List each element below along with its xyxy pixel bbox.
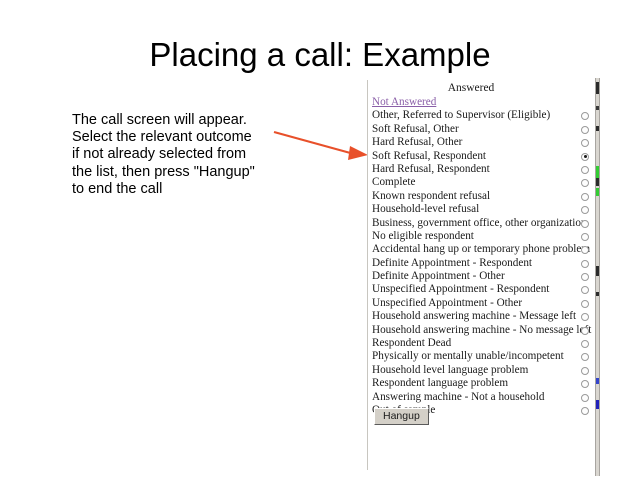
outcome-radio[interactable] [581, 166, 589, 174]
outcome-radio[interactable] [581, 286, 589, 294]
outcome-row[interactable]: Unspecified Appointment - Other [370, 297, 599, 310]
outcome-label: Definite Appointment - Respondent [372, 257, 532, 270]
outcome-radio[interactable] [581, 206, 589, 214]
scrollbar-mark [596, 82, 599, 94]
outcome-radio[interactable] [581, 313, 589, 321]
outcome-label: Answering machine - Not a household [372, 391, 544, 404]
arrow-icon [272, 122, 376, 168]
outcome-radio[interactable] [581, 367, 589, 375]
outcome-row[interactable]: Known respondent refusal [370, 190, 599, 203]
scrollbar-mark [596, 106, 599, 110]
outcome-label: Respondent Dead [372, 337, 451, 350]
answered-column-header: Answered [368, 82, 574, 94]
outcome-label: Household level language problem [372, 364, 528, 377]
outcome-label: Respondent language problem [372, 377, 508, 390]
outcome-radio[interactable] [581, 179, 589, 187]
outcome-row[interactable]: No eligible respondent [370, 230, 599, 243]
outcome-label: Household answering machine - Message le… [372, 310, 576, 323]
outcome-row[interactable]: Answering machine - Not a household [370, 391, 599, 404]
outcome-radio[interactable] [581, 340, 589, 348]
outcome-radio[interactable] [581, 353, 589, 361]
scrollbar-mark [596, 378, 599, 384]
outcome-radio[interactable] [581, 380, 589, 388]
call-screen-panel: Answered Not AnsweredOther, Referred to … [367, 80, 600, 470]
not-answered-link[interactable]: Not Answered [372, 96, 436, 109]
outcome-label: Soft Refusal, Respondent [372, 150, 486, 163]
outcome-label: Accidental hang up or temporary phone pr… [372, 243, 590, 256]
outcome-row[interactable]: Definite Appointment - Other [370, 270, 599, 283]
outcome-radio[interactable] [581, 300, 589, 308]
scrollbar-mark [596, 292, 599, 296]
outcome-radio[interactable] [581, 139, 589, 147]
outcome-label: Household-level refusal [372, 203, 479, 216]
scrollbar-thumb[interactable] [596, 166, 599, 178]
outcome-row[interactable]: Soft Refusal, Other [370, 123, 599, 136]
outcome-radio-selected[interactable] [581, 153, 589, 161]
outcome-label: Hard Refusal, Other [372, 136, 462, 149]
outcome-row[interactable]: Respondent Dead [370, 337, 599, 350]
outcome-radio[interactable] [581, 112, 589, 120]
outcome-label: Other, Referred to Supervisor (Eligible) [372, 109, 550, 122]
outcome-row[interactable]: Household level language problem [370, 364, 599, 377]
instruction-line: to end the call [72, 181, 282, 198]
outcome-radio[interactable] [581, 327, 589, 335]
outcome-row[interactable]: Respondent language problem [370, 377, 599, 390]
instruction-callout: The call screen will appear. Select the … [72, 112, 282, 198]
outcome-row[interactable]: Soft Refusal, Respondent [370, 150, 599, 163]
outcome-radio[interactable] [581, 126, 589, 134]
outcome-radio[interactable] [581, 273, 589, 281]
outcome-label: Household answering machine - No message… [372, 324, 591, 337]
outcome-row[interactable]: Household answering machine - Message le… [370, 310, 599, 323]
outcome-radio[interactable] [581, 193, 589, 201]
outcome-label: Business, government office, other organ… [372, 217, 587, 230]
outcome-radio[interactable] [581, 407, 589, 415]
outcome-row[interactable]: Other, Referred to Supervisor (Eligible) [370, 109, 599, 122]
outcome-radio[interactable] [581, 394, 589, 402]
hangup-button[interactable]: Hangup [374, 408, 429, 425]
outcome-label: Definite Appointment - Other [372, 270, 505, 283]
scrollbar-mark [596, 178, 599, 186]
outcome-row[interactable]: Accidental hang up or temporary phone pr… [370, 243, 599, 256]
outcome-label: Unspecified Appointment - Other [372, 297, 522, 310]
outcome-label: Unspecified Appointment - Respondent [372, 283, 549, 296]
outcome-label: Physically or mentally unable/incompeten… [372, 350, 564, 363]
scrollbar-mark [596, 126, 599, 131]
outcome-radio[interactable] [581, 220, 589, 228]
outcome-row[interactable]: Definite Appointment - Respondent [370, 257, 599, 270]
instruction-line: The call screen will appear. [72, 112, 282, 129]
scrollbar-mark [596, 400, 599, 409]
page-title: Placing a call: Example [0, 36, 640, 74]
vertical-scrollbar[interactable] [595, 78, 600, 476]
outcome-row[interactable]: Physically or mentally unable/incompeten… [370, 350, 599, 363]
outcome-row[interactable]: Business, government office, other organ… [370, 217, 599, 230]
outcome-radio[interactable] [581, 233, 589, 241]
outcome-list[interactable]: Not AnsweredOther, Referred to Superviso… [370, 96, 599, 417]
outcome-label: No eligible respondent [372, 230, 474, 243]
outcome-label: Hard Refusal, Respondent [372, 163, 490, 176]
not-answered-link-row[interactable]: Not Answered [370, 96, 599, 109]
instruction-line: Select the relevant outcome [72, 129, 282, 146]
outcome-row[interactable]: Hard Refusal, Respondent [370, 163, 599, 176]
outcome-row[interactable]: Complete [370, 176, 599, 189]
scrollbar-mark [596, 188, 599, 196]
outcome-row[interactable]: Unspecified Appointment - Respondent [370, 283, 599, 296]
outcome-radio[interactable] [581, 260, 589, 268]
outcome-row[interactable]: Household answering machine - No message… [370, 324, 599, 337]
outcome-label: Known respondent refusal [372, 190, 490, 203]
instruction-line: the list, then press "Hangup" [72, 164, 282, 181]
scrollbar-mark [596, 266, 599, 276]
outcome-row[interactable]: Household-level refusal [370, 203, 599, 216]
outcome-label: Complete [372, 176, 416, 189]
outcome-label: Soft Refusal, Other [372, 123, 459, 136]
instruction-line: if not already selected from [72, 146, 282, 163]
outcome-row[interactable]: Hard Refusal, Other [370, 136, 599, 149]
